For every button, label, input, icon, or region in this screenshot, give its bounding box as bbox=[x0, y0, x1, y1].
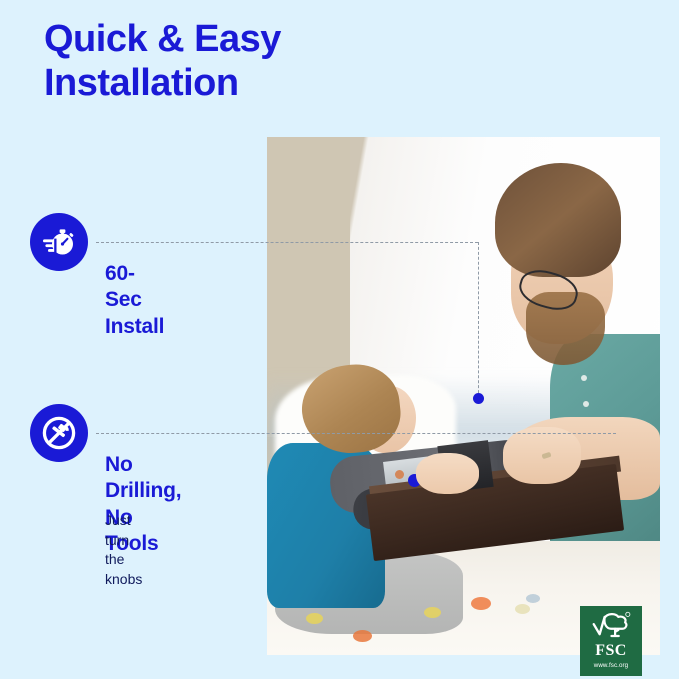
connector-line-2-horizontal bbox=[96, 433, 616, 434]
page-title: Quick & Easy Installation bbox=[44, 18, 374, 105]
feature-1-title-line-1: 60-Sec bbox=[105, 262, 142, 311]
feature-1-title-line-2: Install bbox=[105, 315, 164, 338]
callout-dot-1 bbox=[473, 393, 484, 404]
page-title-line-2: Installation bbox=[44, 62, 374, 106]
connector-line-1-horizontal bbox=[96, 242, 478, 243]
connector-line-1-vertical bbox=[478, 242, 479, 398]
stopwatch-speed-icon bbox=[30, 213, 88, 271]
feature-2-subtitle: Just turn the knobs bbox=[105, 511, 142, 589]
duvet-dot bbox=[353, 630, 372, 642]
fsc-label: FSC bbox=[595, 643, 626, 659]
duvet-dot bbox=[471, 597, 491, 610]
duvet-dot bbox=[526, 594, 540, 603]
tree-checkmark-icon bbox=[591, 611, 631, 641]
duvet-dot bbox=[306, 613, 323, 624]
fsc-certification-badge: FSC www.fsc.org bbox=[580, 606, 642, 676]
feature-2-subtitle-line-2: knobs bbox=[105, 571, 142, 587]
feature-2-title-line-1: No Drilling, bbox=[105, 453, 181, 502]
duvet-dot bbox=[424, 607, 441, 618]
photo-man-hair bbox=[495, 163, 621, 277]
feature-1-title: 60-Sec Install bbox=[105, 261, 164, 340]
page-title-line-1: Quick & Easy bbox=[44, 18, 281, 60]
fsc-url: www.fsc.org bbox=[594, 662, 628, 669]
photo-boy-hand bbox=[416, 453, 479, 494]
product-lifestyle-photo bbox=[267, 137, 660, 655]
photo-product-knob-secondary bbox=[395, 470, 404, 479]
duvet-dot bbox=[515, 604, 530, 614]
feature-2-subtitle-line-1: Just turn the bbox=[105, 512, 131, 567]
no-tools-hammer-icon bbox=[30, 404, 88, 462]
